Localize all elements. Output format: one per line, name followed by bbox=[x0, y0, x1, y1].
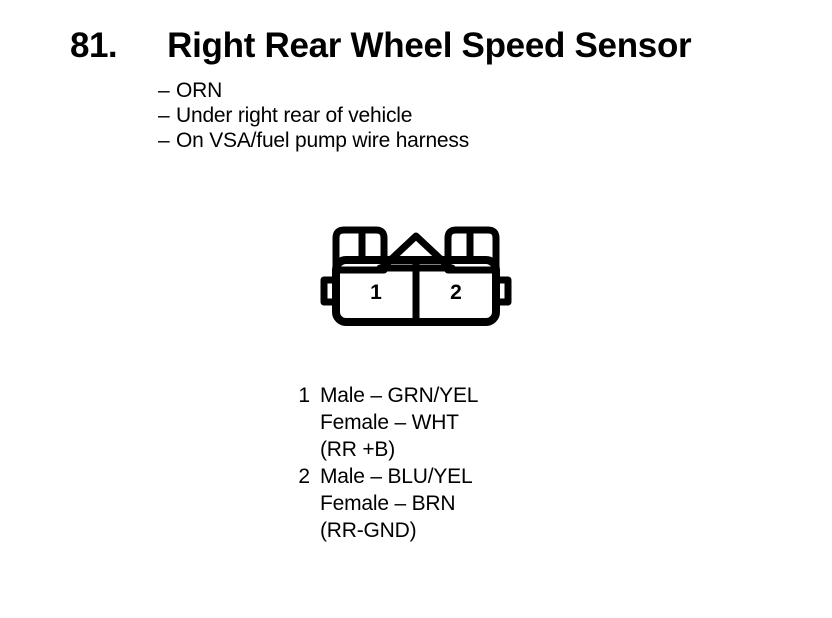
legend-line-female: Female – WHT bbox=[320, 409, 478, 436]
cavity-number-1: 1 bbox=[370, 281, 382, 304]
page-title-text: Right Rear Wheel Speed Sensor bbox=[167, 26, 691, 66]
legend-pin-descriptions: Male – BLU/YEL Female – BRN (RR-GND) bbox=[320, 463, 472, 544]
page-title: 81. Right Rear Wheel Speed Sensor bbox=[70, 26, 691, 66]
dash-bullet-icon: – bbox=[158, 128, 176, 153]
list-item-label: ORN bbox=[176, 78, 222, 103]
legend-pin-number: 1 bbox=[284, 382, 310, 409]
legend-line-male: Male – GRN/YEL bbox=[320, 382, 478, 409]
legend-line-function: (RR-GND) bbox=[320, 517, 472, 544]
dash-bullet-icon: – bbox=[158, 103, 176, 128]
dash-bullet-icon: – bbox=[158, 78, 176, 103]
list-item-label: On VSA/fuel pump wire harness bbox=[176, 128, 469, 153]
legend-entry-pin-2: 2 Male – BLU/YEL Female – BRN (RR-GND) bbox=[284, 463, 478, 544]
page-title-number: 81. bbox=[70, 26, 117, 66]
legend-line-male: Male – BLU/YEL bbox=[320, 463, 472, 490]
list-item: – On VSA/fuel pump wire harness bbox=[158, 128, 469, 153]
list-item: – Under right rear of vehicle bbox=[158, 103, 469, 128]
legend-pin-number: 2 bbox=[284, 463, 310, 490]
connector-diagram: 1 2 bbox=[318, 218, 514, 330]
pin-legend: 1 Male – GRN/YEL Female – WHT (RR +B) 2 … bbox=[284, 382, 478, 544]
connector-drawing: 1 2 bbox=[318, 218, 514, 330]
list-item: – ORN bbox=[158, 78, 469, 103]
legend-line-female: Female – BRN bbox=[320, 490, 472, 517]
legend-entry-pin-1: 1 Male – GRN/YEL Female – WHT (RR +B) bbox=[284, 382, 478, 463]
cavity-number-2: 2 bbox=[450, 281, 462, 304]
detail-list: – ORN – Under right rear of vehicle – On… bbox=[158, 78, 469, 153]
list-item-label: Under right rear of vehicle bbox=[176, 103, 412, 128]
legend-pin-descriptions: Male – GRN/YEL Female – WHT (RR +B) bbox=[320, 382, 478, 463]
legend-line-function: (RR +B) bbox=[320, 436, 478, 463]
